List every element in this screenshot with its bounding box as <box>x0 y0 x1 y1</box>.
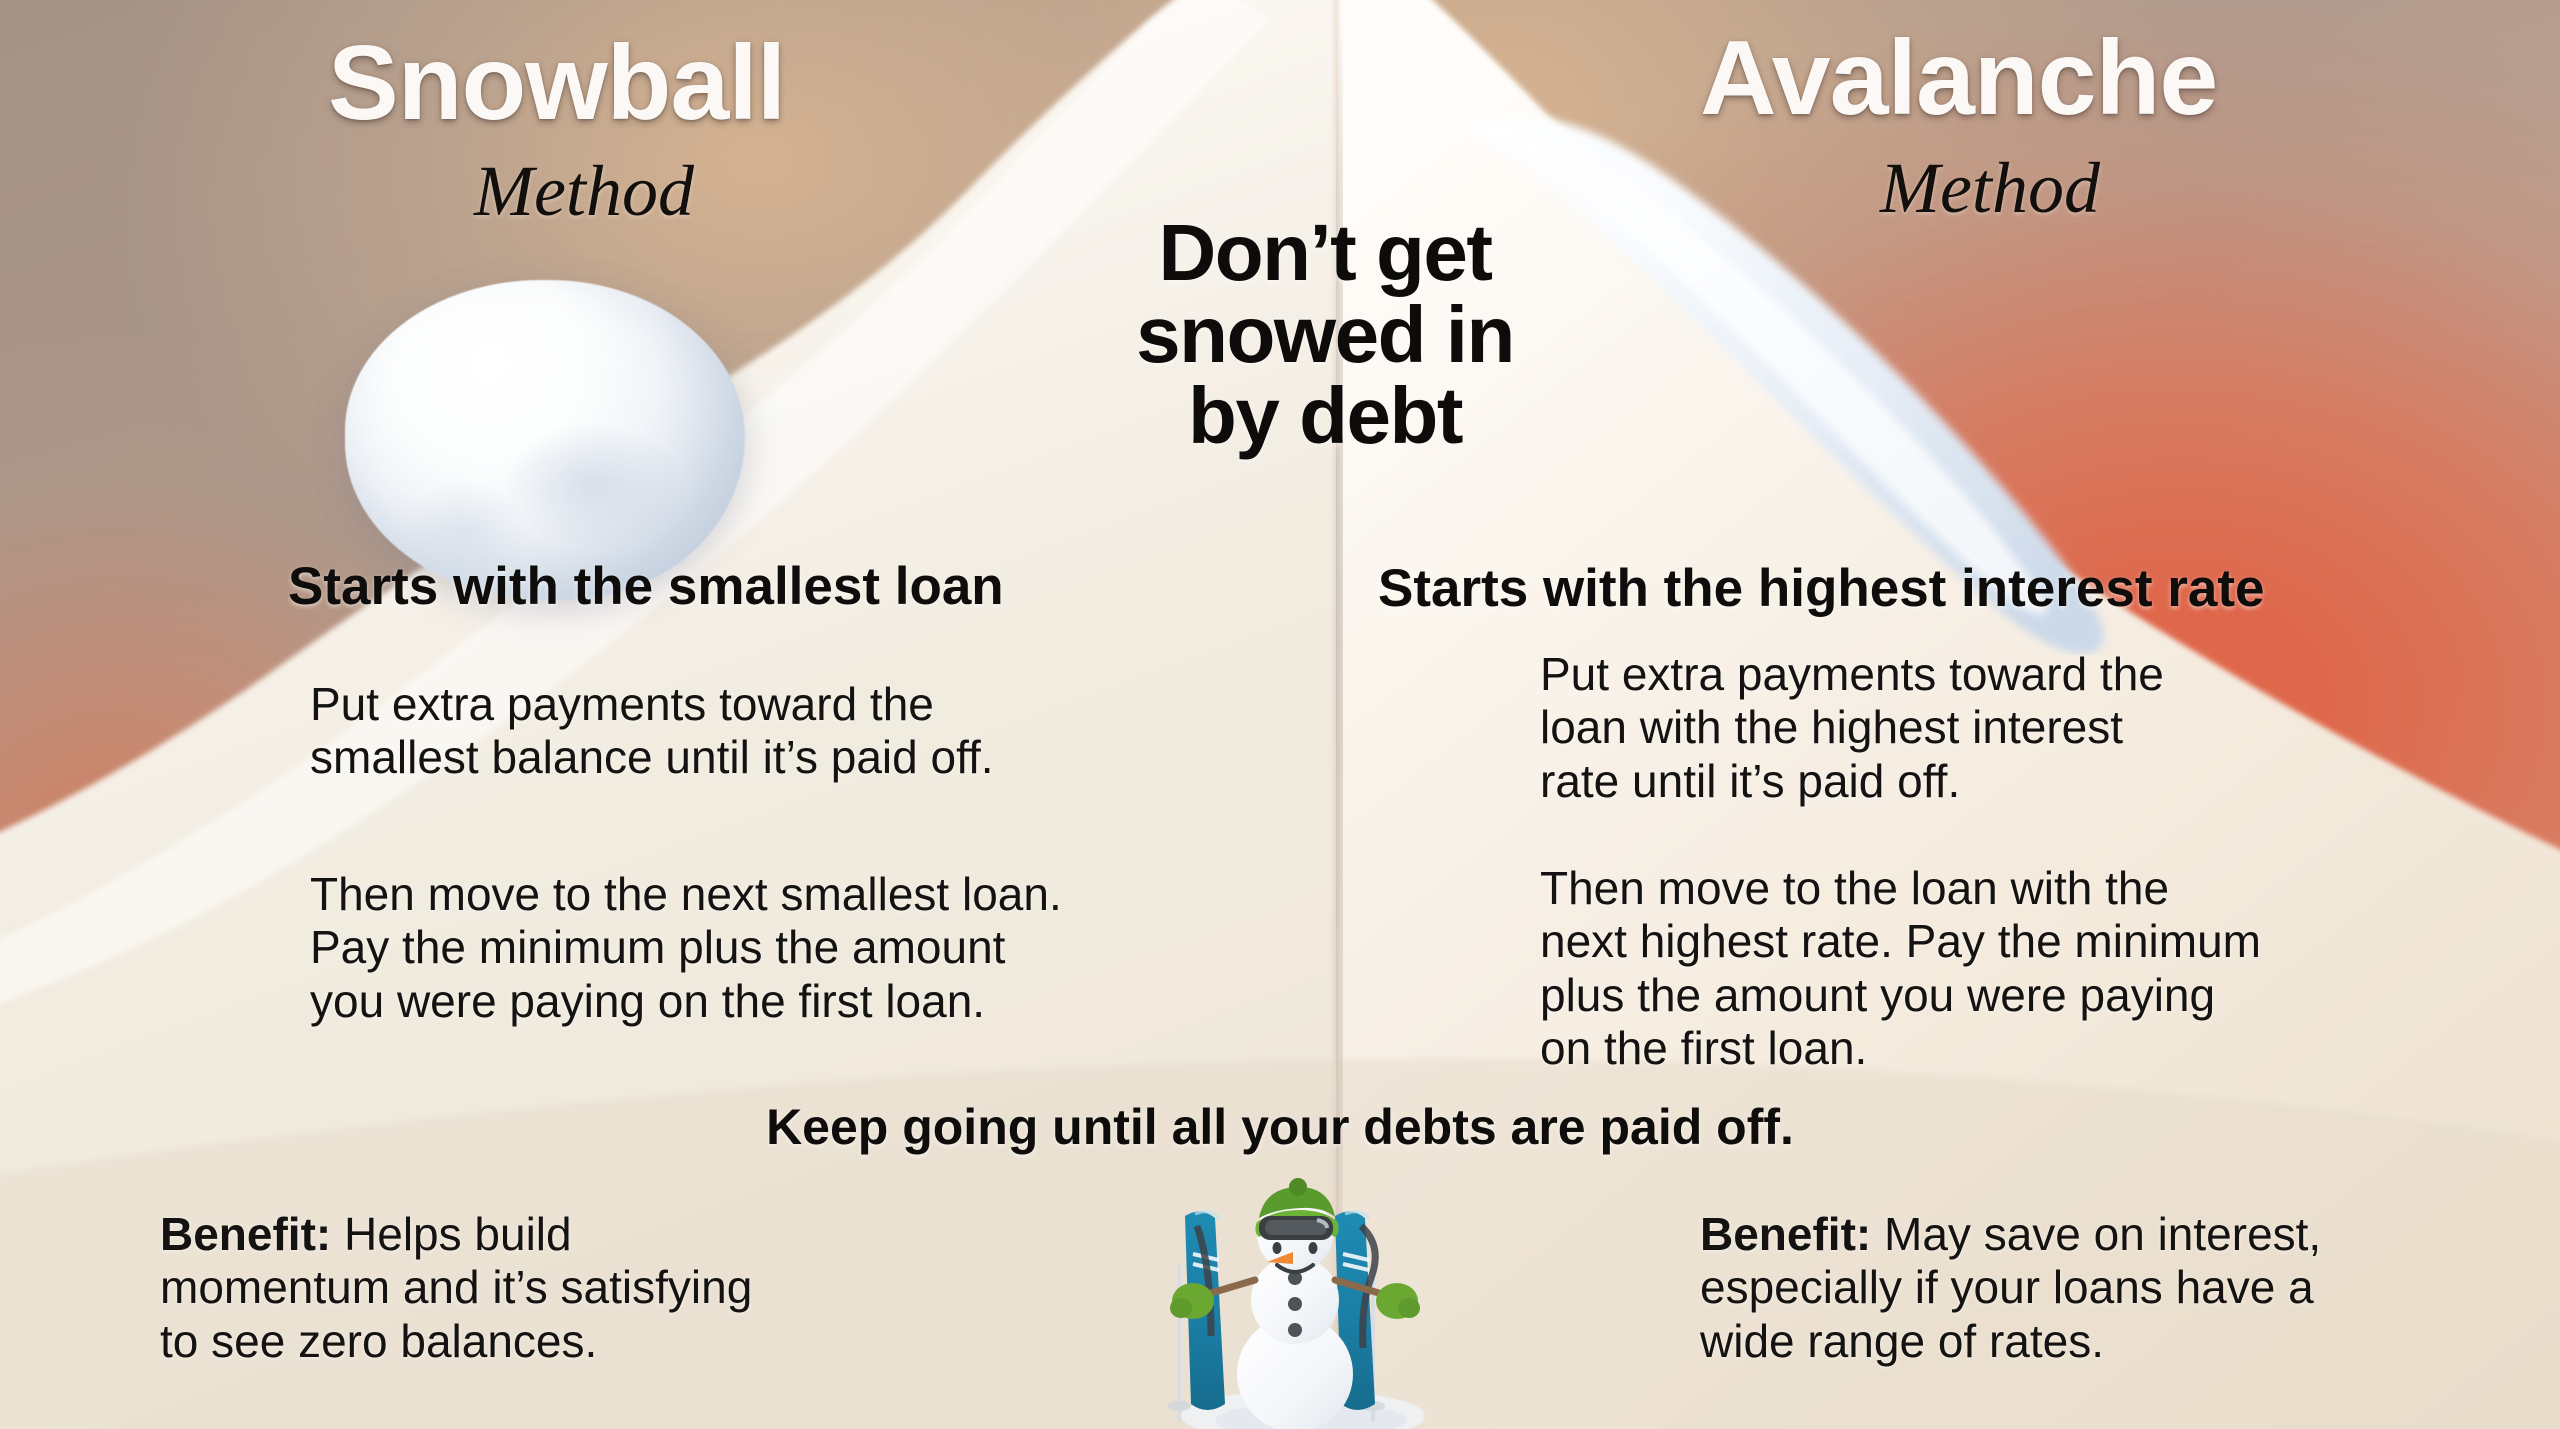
snowball-benefit: Benefit: Helps build momentum and it’s s… <box>160 1208 980 1368</box>
avalanche-method-subtitle: Method <box>1880 152 2100 224</box>
text-line: next highest rate. Pay the minimum <box>1540 915 2440 968</box>
avalanche-paragraph-1: Put extra payments toward the loan with … <box>1540 648 2340 808</box>
closing-statement: Keep going until all your debts are paid… <box>0 1102 2560 1152</box>
benefit-text: May save on interest, <box>1871 1208 2321 1260</box>
avalanche-benefit: Benefit: May save on interest, especiall… <box>1700 1208 2530 1368</box>
benefit-label: Benefit: <box>160 1208 331 1260</box>
snowball-column-heading: Starts with the smallest loan <box>288 560 1004 613</box>
snowball-paragraph-2: Then move to the next smallest loan. Pay… <box>310 868 1190 1028</box>
text-line: Then move to the next smallest loan. <box>310 868 1190 921</box>
headline-line-3: by debt <box>1085 375 1565 457</box>
text-line: Pay the minimum plus the amount <box>310 921 1190 974</box>
text-line: plus the amount you were paying <box>1540 969 2440 1022</box>
poster-headline: Don’t get snowed in by debt <box>1085 212 1565 457</box>
text-line: momentum and it’s satisfying <box>160 1261 980 1314</box>
avalanche-method-title: Avalanche <box>1700 25 2217 131</box>
text-line: you were paying on the first loan. <box>310 975 1190 1028</box>
benefit-label: Benefit: <box>1700 1208 1871 1260</box>
text-line: wide range of rates. <box>1700 1315 2530 1368</box>
text-line: Benefit: Helps build <box>160 1208 980 1261</box>
headline-line-2: snowed in <box>1085 294 1565 376</box>
snowball-paragraph-1: Put extra payments toward the smallest b… <box>310 678 1170 785</box>
text-line: smallest balance until it’s paid off. <box>310 731 1170 784</box>
text-line: Benefit: May save on interest, <box>1700 1208 2530 1261</box>
text-line: Put extra payments toward the <box>310 678 1170 731</box>
snowball-method-subtitle: Method <box>474 155 694 227</box>
headline-line-1: Don’t get <box>1085 212 1565 294</box>
avalanche-column-heading: Starts with the highest interest rate <box>1378 562 2264 615</box>
text-line: to see zero balances. <box>160 1315 980 1368</box>
text-line: on the first loan. <box>1540 1022 2440 1075</box>
text-line: rate until it’s paid off. <box>1540 755 2340 808</box>
text-line: Then move to the loan with the <box>1540 862 2440 915</box>
benefit-text: Helps build <box>331 1208 571 1260</box>
infographic-poster: Snowball Method Avalanche Method Don’t g… <box>0 0 2560 1429</box>
text-line: loan with the highest interest <box>1540 701 2340 754</box>
text-line: especially if your loans have a <box>1700 1261 2530 1314</box>
snowball-method-title: Snowball <box>328 30 785 136</box>
avalanche-paragraph-2: Then move to the loan with the next high… <box>1540 862 2440 1075</box>
skiing-snowman-icon <box>1135 1168 1455 1429</box>
text-line: Put extra payments toward the <box>1540 648 2340 701</box>
